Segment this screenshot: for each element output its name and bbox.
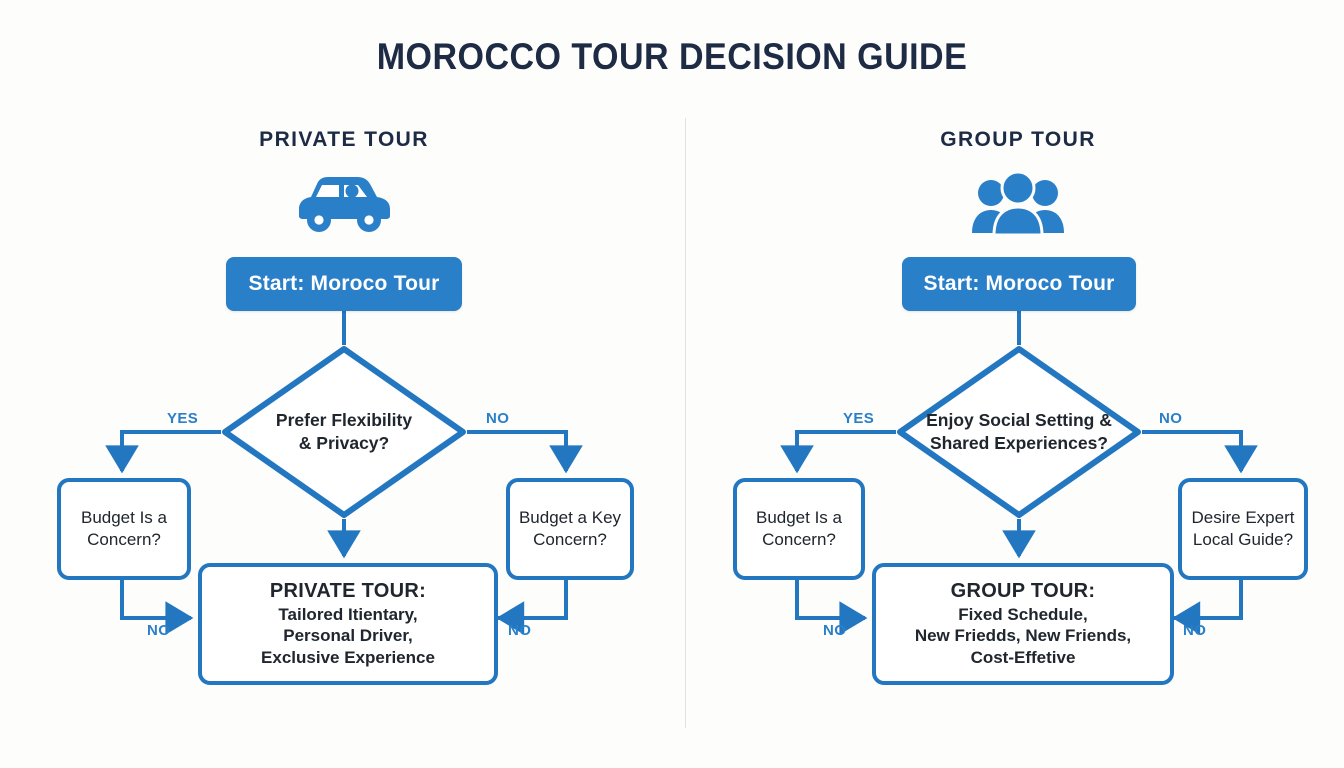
- condition-box-group-expert-guide[interactable]: Desire Expert Local Guide?: [1178, 478, 1308, 580]
- condition-line-1: Budget a Key: [519, 507, 621, 529]
- edge-label-group-left-exit-no: NO: [823, 622, 846, 639]
- start-node-group[interactable]: Start: Moroco Tour: [902, 257, 1136, 311]
- outcome-line-2: Personal Driver,: [283, 625, 412, 647]
- edge-label-private-left-exit-no: NO: [147, 622, 170, 639]
- condition-box-private-budget-key[interactable]: Budget a Key Concern?: [506, 478, 634, 580]
- outcome-line-3: Cost-Effetive: [971, 647, 1076, 669]
- outcome-line-3: Exclusive Experience: [261, 647, 435, 669]
- condition-line-1: Budget Is a: [756, 507, 842, 529]
- decision-diamond-group[interactable]: Enjoy Social Setting & Shared Experience…: [896, 345, 1142, 519]
- outcome-line-1: Fixed Schedule,: [958, 604, 1087, 626]
- condition-box-private-budget[interactable]: Budget Is a Concern?: [57, 478, 191, 580]
- edge-label-private-no: NO: [486, 410, 509, 427]
- condition-line-2: Local Guide?: [1193, 529, 1293, 551]
- condition-line-2: Concern?: [533, 529, 607, 551]
- outcome-line-2: New Friedds, New Friends,: [915, 625, 1131, 647]
- outcome-title: PRIVATE TOUR:: [270, 580, 426, 603]
- edge-label-group-right-exit-no: NO: [1183, 622, 1206, 639]
- condition-line-2: Concern?: [87, 529, 161, 551]
- edge-label-group-yes: YES: [843, 410, 874, 427]
- condition-line-1: Budget Is a: [81, 507, 167, 529]
- page-title: MOROCCO TOUR DECISION GUIDE: [54, 36, 1290, 78]
- condition-line-2: Concern?: [762, 529, 836, 551]
- start-node-private[interactable]: Start: Moroco Tour: [226, 257, 462, 311]
- outcome-box-group[interactable]: GROUP TOUR: Fixed Schedule, New Friedds,…: [872, 563, 1174, 685]
- decision-diamond-private[interactable]: Prefer Flexibility & Privacy?: [221, 345, 467, 519]
- column-heading-private: PRIVATE TOUR: [144, 128, 544, 152]
- outcome-line-1: Tailored Itientary,: [278, 604, 417, 626]
- outcome-title: GROUP TOUR:: [951, 580, 1096, 603]
- people-group-icon: [818, 168, 1218, 240]
- edge-label-private-yes: YES: [167, 410, 198, 427]
- condition-line-1: Desire Expert: [1192, 507, 1295, 529]
- edge-label-private-right-exit-no: NO: [508, 622, 531, 639]
- column-heading-group: GROUP TOUR: [818, 128, 1218, 152]
- condition-box-group-budget[interactable]: Budget Is a Concern?: [733, 478, 865, 580]
- car-icon: [144, 168, 544, 240]
- column-divider: [685, 118, 686, 728]
- edge-label-group-no: NO: [1159, 410, 1182, 427]
- outcome-box-private[interactable]: PRIVATE TOUR: Tailored Itientary, Person…: [198, 563, 498, 685]
- flowchart-canvas: MOROCCO TOUR DECISION GUIDE: [0, 0, 1344, 768]
